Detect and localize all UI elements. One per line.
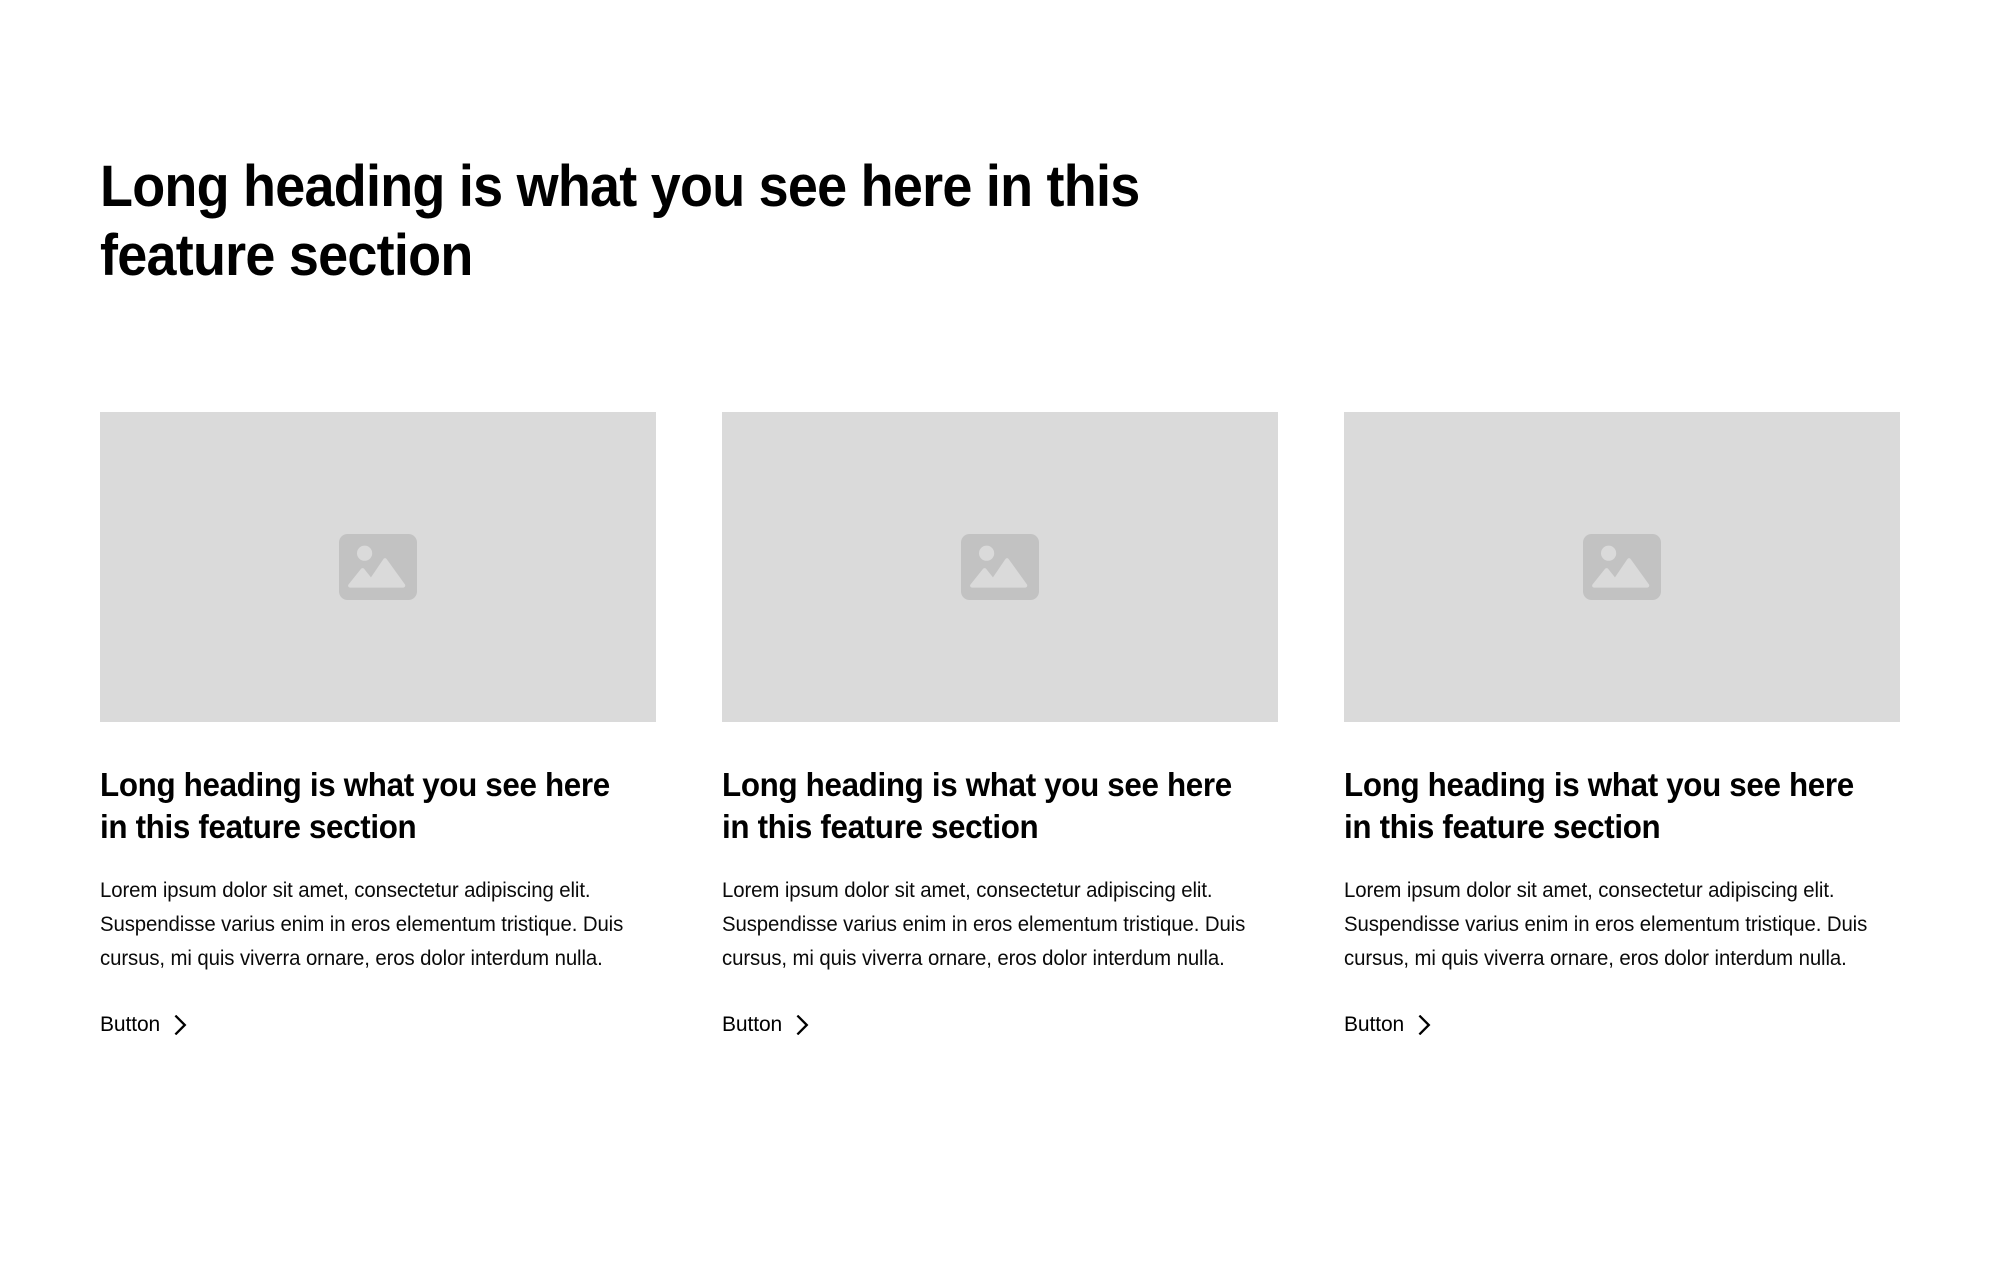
card-title: Long heading is what you see here in thi… bbox=[100, 722, 628, 848]
card-cta-label: Button bbox=[100, 1012, 160, 1038]
feature-card-grid: Long heading is what you see here in thi… bbox=[100, 412, 1900, 1038]
chevron-right-icon bbox=[796, 1015, 809, 1035]
card-cta-label: Button bbox=[1344, 1012, 1404, 1038]
image-placeholder-icon bbox=[339, 534, 417, 600]
image-placeholder-icon bbox=[961, 534, 1039, 600]
card-body-text: Lorem ipsum dolor sit amet, consectetur … bbox=[722, 848, 1251, 976]
card-title: Long heading is what you see here in thi… bbox=[722, 722, 1250, 848]
feature-card: Long heading is what you see here in thi… bbox=[1344, 412, 1900, 1038]
chevron-right-icon bbox=[1418, 1015, 1431, 1035]
card-image-placeholder bbox=[722, 412, 1278, 722]
card-cta-button[interactable]: Button bbox=[722, 1012, 809, 1038]
feature-card: Long heading is what you see here in thi… bbox=[722, 412, 1278, 1038]
card-cta-button[interactable]: Button bbox=[1344, 1012, 1431, 1038]
page-title: Long heading is what you see here in thi… bbox=[100, 152, 1142, 290]
card-body-text: Lorem ipsum dolor sit amet, consectetur … bbox=[1344, 848, 1873, 976]
card-image-placeholder bbox=[100, 412, 656, 722]
card-cta-button[interactable]: Button bbox=[100, 1012, 187, 1038]
chevron-right-icon bbox=[174, 1015, 187, 1035]
image-placeholder-icon bbox=[1583, 534, 1661, 600]
card-image-placeholder bbox=[1344, 412, 1900, 722]
card-cta-label: Button bbox=[722, 1012, 782, 1038]
feature-card: Long heading is what you see here in thi… bbox=[100, 412, 656, 1038]
card-title: Long heading is what you see here in thi… bbox=[1344, 722, 1872, 848]
card-body-text: Lorem ipsum dolor sit amet, consectetur … bbox=[100, 848, 629, 976]
feature-section-page: Long heading is what you see here in thi… bbox=[0, 0, 2000, 1264]
